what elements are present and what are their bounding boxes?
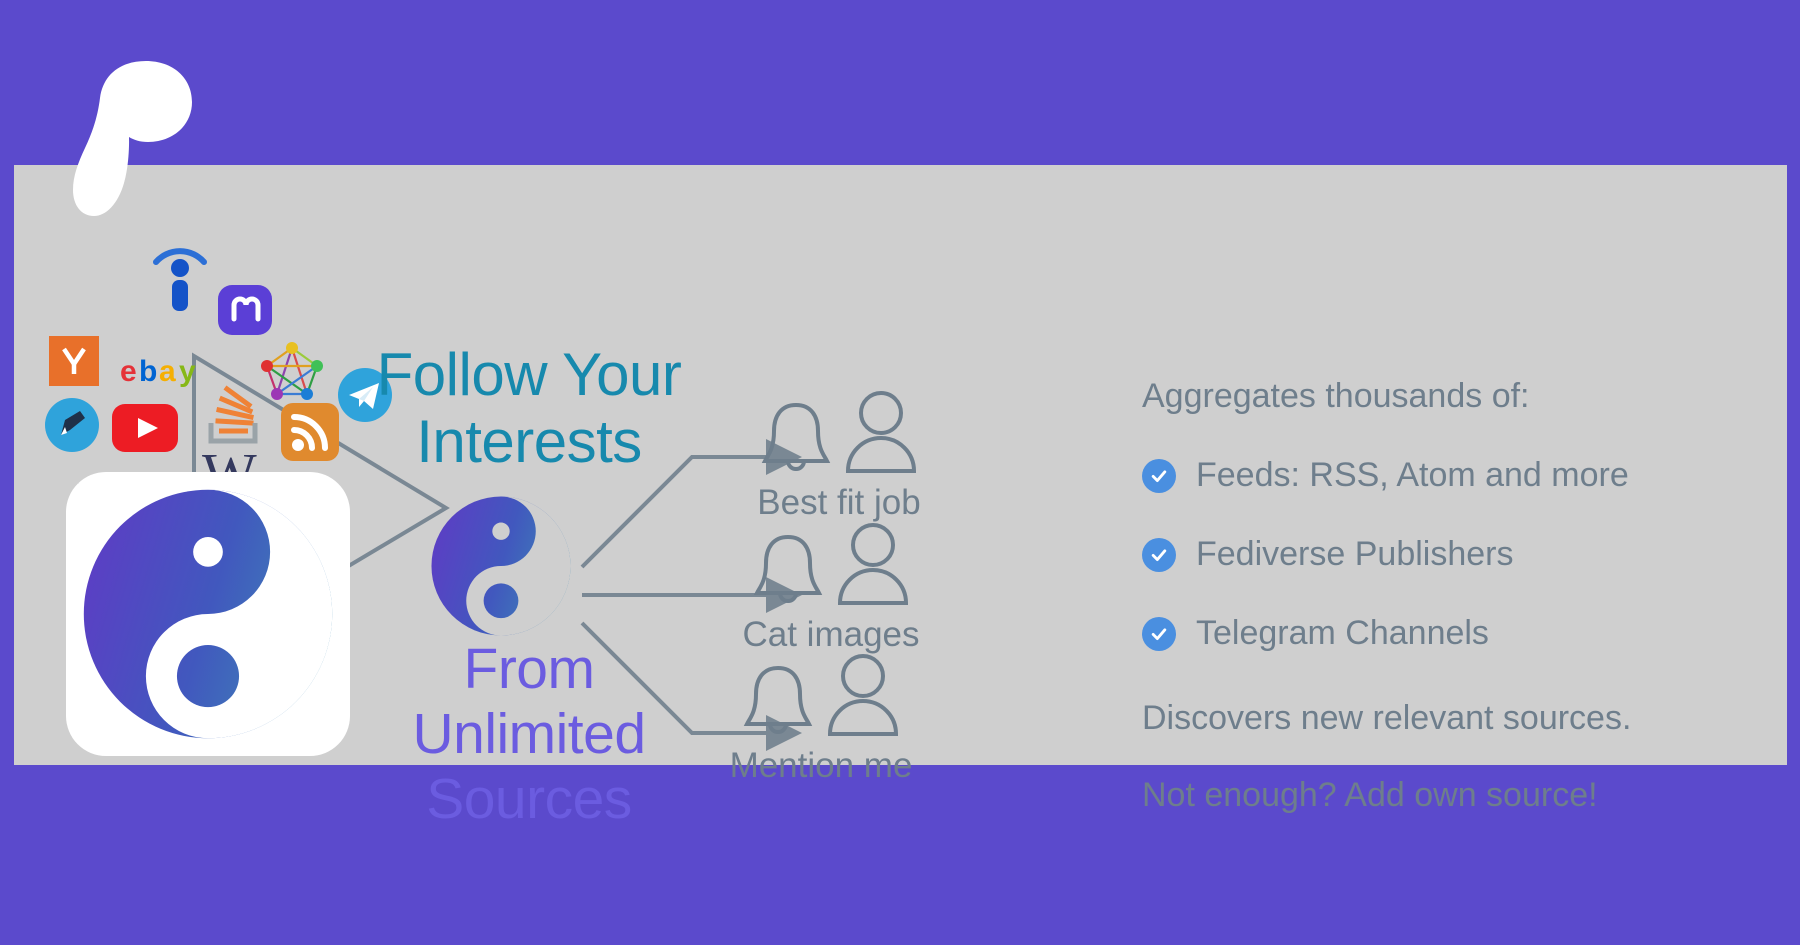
notification-mention-me: Mention me [696,648,946,786]
bell-icon [758,395,834,481]
svg-text:e: e [120,355,137,388]
ycombinator-icon [49,336,99,386]
feature-item-fediverse: Fediverse Publishers [1142,535,1742,574]
app-icon[interactable] [66,472,350,756]
feature-footer-line-1: Discovers new relevant sources. [1142,699,1742,738]
mastodon-icon [216,283,274,341]
feature-item-feeds: Feeds: RSS, Atom and more [1142,456,1742,495]
notification-best-fit-job: Best fit job [714,385,964,523]
wifi-info-icon [150,238,210,314]
notification-cat-images: Cat images [706,517,956,655]
feature-item-label: Telegram Channels [1196,614,1489,653]
ebay-icon: e b a y [120,351,212,391]
person-icon [824,652,902,744]
app-icon-glyph [73,479,343,749]
feature-footer-line-2: Not enough? Add own source! [1142,776,1742,815]
feature-list: Aggregates thousands of: Feeds: RSS, Ato… [1142,377,1742,815]
youtube-icon [112,404,178,452]
notification-caption: Mention me [696,746,946,786]
check-icon [1142,459,1176,493]
svg-text:b: b [139,355,157,388]
svg-text:a: a [159,355,176,388]
bell-icon [740,658,816,744]
patreon-logo[interactable] [72,58,192,218]
person-icon [834,521,912,613]
feature-item-label: Fediverse Publishers [1196,535,1513,574]
svg-text:y: y [179,355,196,388]
app-logo-center [422,487,580,645]
bell-icon [750,527,826,613]
feature-list-heading: Aggregates thousands of: [1142,377,1742,416]
person-icon [842,389,920,481]
check-icon [1142,617,1176,651]
check-icon [1142,538,1176,572]
feature-item-label: Feeds: RSS, Atom and more [1196,456,1629,495]
feature-item-telegram: Telegram Channels [1142,614,1742,653]
blog-pen-icon [44,397,100,453]
stackoverflow-icon [203,383,263,449]
